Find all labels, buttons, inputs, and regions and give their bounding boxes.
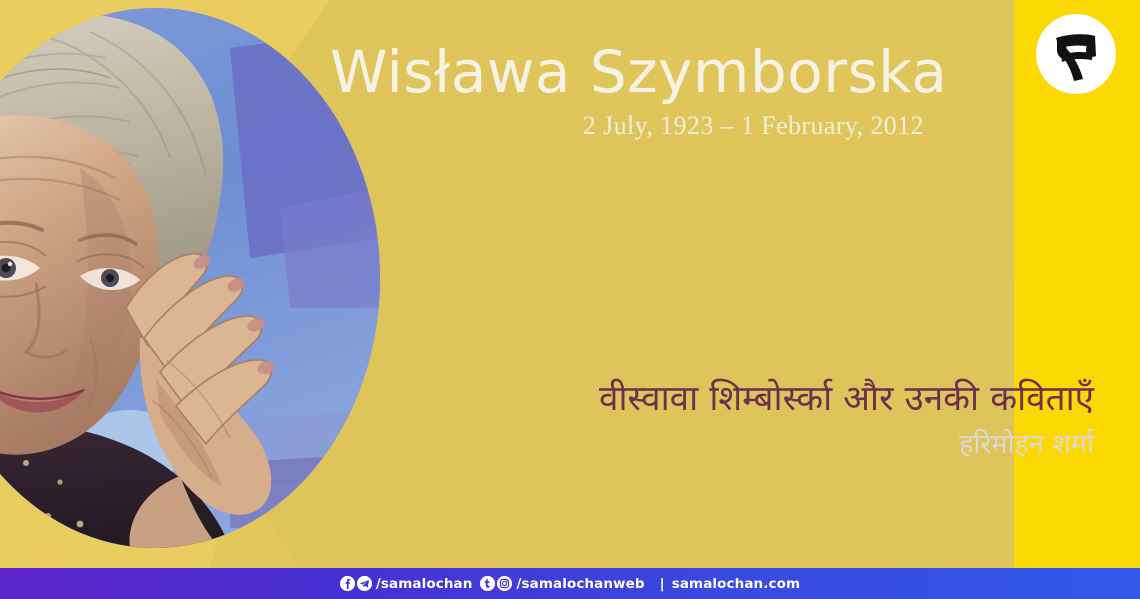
page-title: Wisława Szymborska <box>330 42 930 103</box>
samalochan-logo[interactable] <box>1036 14 1116 94</box>
hindi-author-name: हरिमोहन शर्मा <box>400 428 1094 462</box>
instagram-icon[interactable] <box>497 576 512 591</box>
footer-separator: | <box>660 576 665 592</box>
hindi-article-title: वीस्वावा शिम्बोर्स्का और उनकी कविताएँ <box>400 378 1094 422</box>
footer-handle-primary[interactable]: /samalochan <box>376 576 473 592</box>
hindi-block: वीस्वावा शिम्बोर्स्का और उनकी कविताएँ हर… <box>400 378 1116 462</box>
footer-website[interactable]: samalochan.com <box>672 576 800 592</box>
footer-bar: /samalochan /samalochanweb | samalochan.… <box>0 568 1140 599</box>
life-dates: 2 July, 1923 – 1 February, 2012 <box>330 111 930 141</box>
poster-canvas: Wisława Szymborska 2 July, 1923 – 1 Febr… <box>0 0 1140 599</box>
logo-glyph-icon <box>1047 25 1105 83</box>
footer-handle-secondary[interactable]: /samalochanweb <box>516 576 644 592</box>
title-block: Wisława Szymborska 2 July, 1923 – 1 Febr… <box>330 42 930 141</box>
telegram-icon[interactable] <box>357 576 372 591</box>
footer-content: /samalochan /samalochanweb | samalochan.… <box>340 576 800 592</box>
tumblr-icon[interactable] <box>480 576 495 591</box>
facebook-icon[interactable] <box>340 576 355 591</box>
